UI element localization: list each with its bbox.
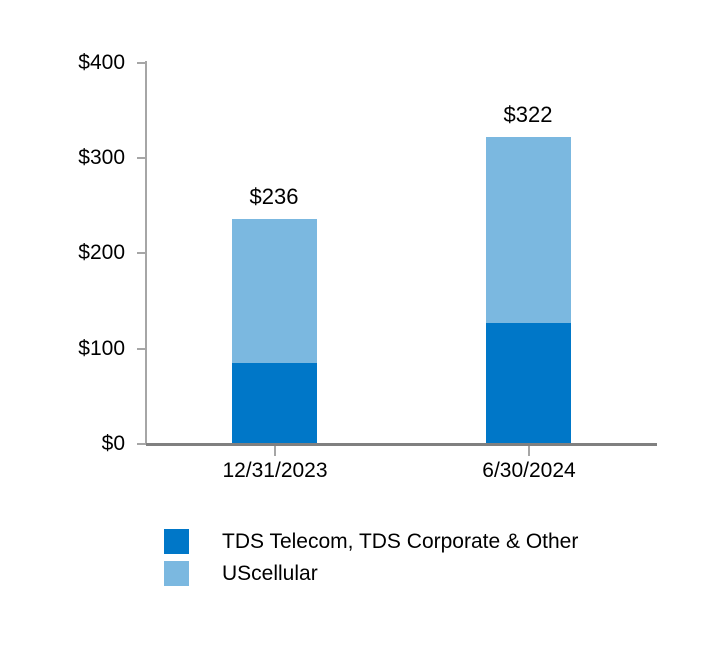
bar-12-31-2023[interactable] <box>232 219 317 445</box>
y-axis-tick-400 <box>137 62 146 64</box>
legend-label: UScellular <box>222 563 318 584</box>
bar-segment-uscellular[interactable] <box>232 219 317 363</box>
y-axis-tick-0 <box>137 443 146 445</box>
y-axis-label-200: $200 <box>35 242 125 263</box>
legend-item-uscellular[interactable]: UScellular <box>164 560 578 586</box>
y-axis-label-0: $0 <box>35 433 125 454</box>
y-axis-tick-200 <box>137 252 146 254</box>
chart-legend: TDS Telecom, TDS Corporate & Other UScel… <box>164 528 578 592</box>
bar-segment-uscellular[interactable] <box>486 137 571 324</box>
legend-label: TDS Telecom, TDS Corporate & Other <box>222 531 578 552</box>
y-axis-label-300-wrap: $300 <box>35 147 125 168</box>
y-axis-label-0-wrap: $0 <box>35 433 125 454</box>
stacked-bar-chart: $400 $300 $200 $100 $0 $236 $322 12/31/2… <box>0 0 720 666</box>
y-axis-label-200-wrap: $200 <box>35 242 125 263</box>
x-axis-label-12-31-2023: 12/31/2023 <box>165 460 385 481</box>
x-axis-line <box>146 443 657 446</box>
bar-segment-tds-telecom-corporate-other[interactable] <box>486 323 571 445</box>
y-axis-label-400-wrap: $400 <box>35 52 125 73</box>
x-axis-tick-12-31-2023 <box>274 446 276 456</box>
y-axis-label-100: $100 <box>35 338 125 359</box>
x-axis-tick-6-30-2024 <box>528 446 530 456</box>
y-axis-tick-100 <box>137 348 146 350</box>
bar-total-label-6-30-2024: $322 <box>448 104 608 126</box>
bar-6-30-2024[interactable] <box>486 137 571 445</box>
legend-item-tds-telecom-corporate-other[interactable]: TDS Telecom, TDS Corporate & Other <box>164 528 578 554</box>
bar-total-label-12-31-2023: $236 <box>194 186 354 208</box>
y-axis-label-100-wrap: $100 <box>35 338 125 359</box>
y-axis-label-300: $300 <box>35 147 125 168</box>
bar-segment-tds-telecom-corporate-other[interactable] <box>232 363 317 445</box>
legend-swatch-icon <box>164 529 189 554</box>
legend-swatch-icon <box>164 561 189 586</box>
y-axis-tick-300 <box>137 157 146 159</box>
y-axis-label-400: $400 <box>35 52 125 73</box>
x-axis-label-6-30-2024: 6/30/2024 <box>419 460 639 481</box>
